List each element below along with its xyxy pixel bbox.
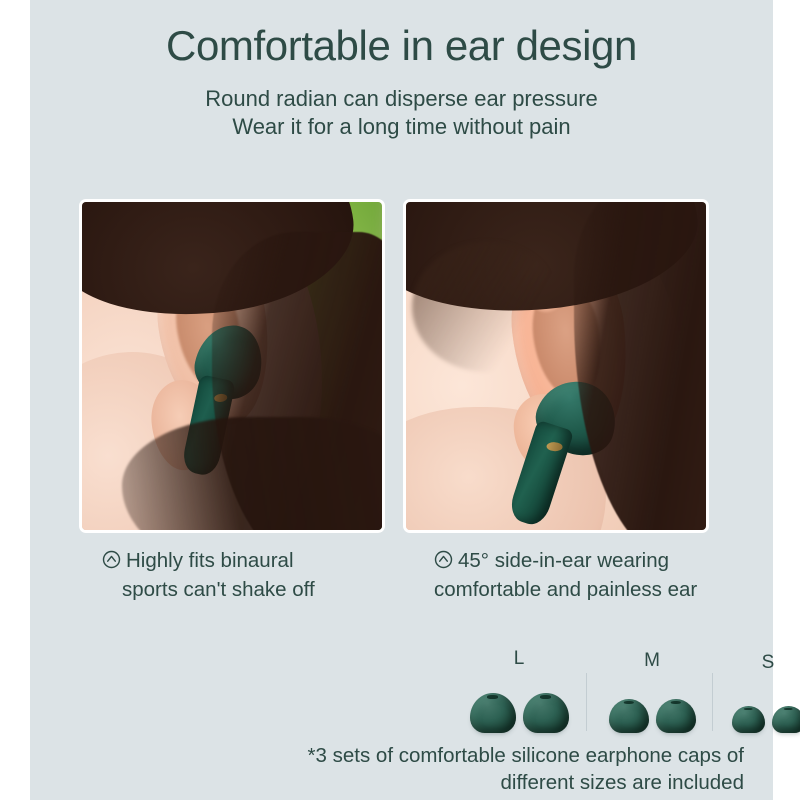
ear-photo-right [403, 199, 709, 533]
ear-cap-dome [523, 693, 569, 733]
circled-caret-up-icon [102, 549, 121, 576]
ear-cap-dome [609, 699, 649, 733]
page-title: Comfortable in ear design [30, 22, 773, 69]
ear-cap-dome [772, 706, 800, 733]
ear-cap-size-label-s: S [720, 653, 800, 672]
subtitle-line-2: Wear it for a long time without pain [30, 114, 773, 140]
footer-note-line-1: *3 sets of comfortable silicone earphone… [30, 742, 744, 769]
ear-cap-dome [470, 693, 516, 733]
content-panel: Comfortable in ear design Round radian c… [30, 0, 773, 800]
product-feature-page: Comfortable in ear design Round radian c… [0, 0, 800, 800]
ear-cap-size-label-l: L [460, 649, 578, 668]
ear-cap-sizes: L M S [420, 645, 760, 733]
caption-right: 45° side-in-ear wearing comfortable and … [434, 547, 697, 604]
ear-photo-right-content [406, 202, 706, 530]
ear-photo-left-content [82, 202, 382, 530]
ear-photo-left [79, 199, 385, 533]
caption-left-line-1: Highly fits binaural [102, 547, 315, 576]
ear-cap-dome [656, 699, 696, 733]
caption-right-text-1: 45° side-in-ear wearing [458, 549, 669, 572]
ear-cap-pair-m [598, 699, 706, 733]
circled-caret-up-icon [434, 549, 453, 576]
ear-cap-group-s: S [720, 649, 800, 733]
ear-cap-size-label-m: M [598, 651, 706, 670]
caption-right-line-1: 45° side-in-ear wearing [434, 547, 697, 576]
footer-note-line-2: different sizes are included [30, 769, 744, 796]
footer-note: *3 sets of comfortable silicone earphone… [30, 742, 744, 797]
ear-cap-pair-l [460, 693, 578, 733]
ear-cap-group-l: L [460, 649, 578, 733]
caption-left-text-2: sports can't shake off [102, 576, 315, 603]
ear-cap-pair-s [720, 706, 800, 733]
caption-left: Highly fits binaural sports can't shake … [102, 547, 315, 604]
hair-wisp [412, 242, 562, 372]
cap-group-divider [712, 673, 713, 731]
ear-cap-group-m: M [598, 649, 706, 733]
caption-left-text-1: Highly fits binaural [126, 549, 294, 572]
cap-group-divider [586, 673, 587, 731]
caption-right-text-2: comfortable and painless ear [434, 576, 697, 603]
ear-cap-dome [732, 706, 765, 733]
subtitle-line-1: Round radian can disperse ear pressure [30, 86, 773, 112]
